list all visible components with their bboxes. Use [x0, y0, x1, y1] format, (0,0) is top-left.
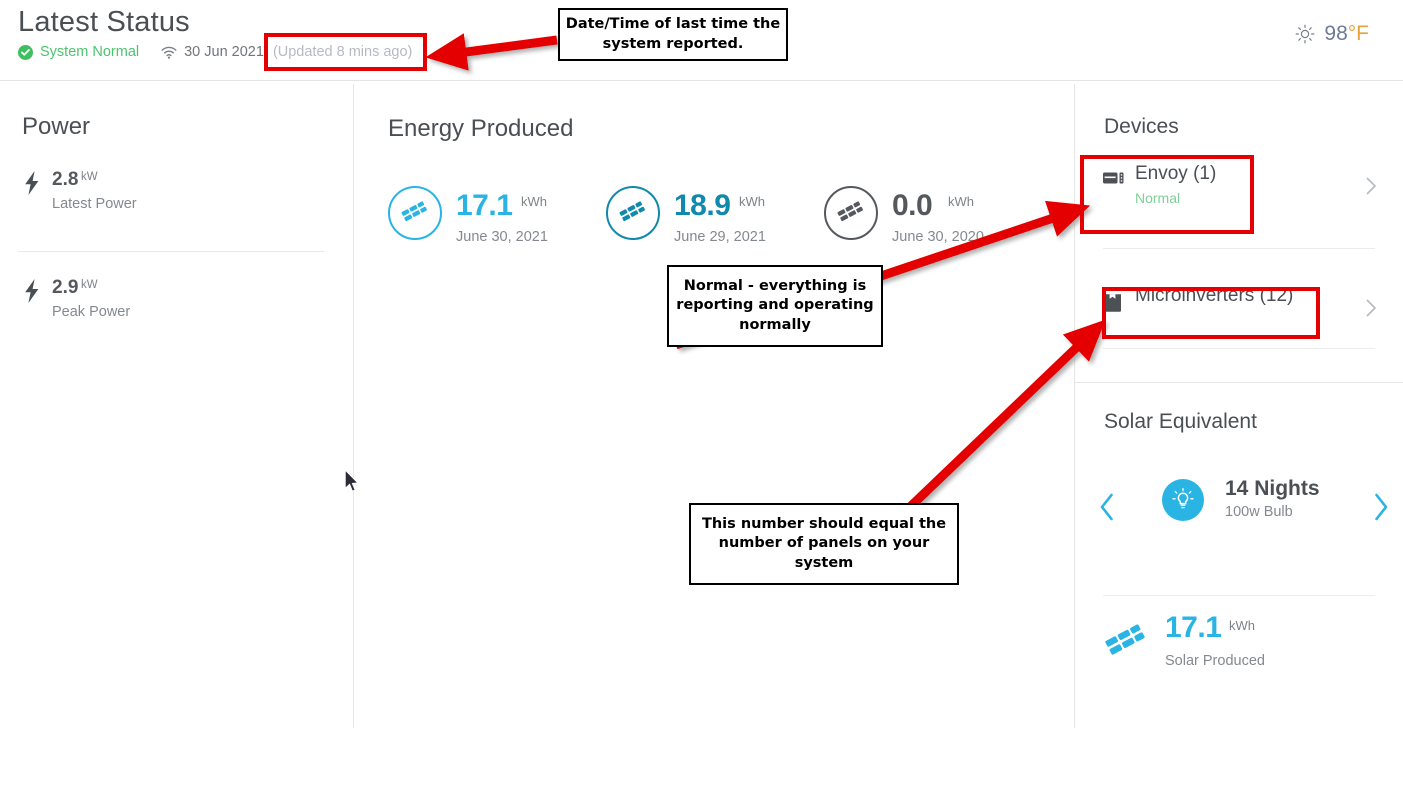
energy-produced-panel: Energy Produced 17.1kWh June 30, 2021 [354, 81, 1074, 729]
temperature-unit: °F [1348, 22, 1369, 46]
power-section-title: Power [22, 113, 90, 141]
solar-equivalent-title: Solar Equivalent [1104, 410, 1257, 434]
bolt-icon [22, 279, 42, 308]
energy-unit-yesterday: kWh [739, 194, 765, 209]
last-report-date: 30 Jun 2021 [184, 44, 264, 60]
solar-equivalent-divider [1103, 595, 1375, 596]
chevron-right-icon[interactable] [1373, 493, 1389, 526]
energy-date-lastyear: June 30, 2020 [892, 229, 984, 245]
devices-divider-2 [1103, 348, 1375, 349]
solar-panel-icon [388, 186, 442, 240]
system-status-text: System Normal [40, 44, 139, 60]
power-row-peak: 2.9kW Peak Power [22, 277, 322, 347]
latest-power-value: 2.8 [52, 169, 78, 191]
energy-date-yesterday: June 29, 2021 [674, 229, 766, 245]
peak-power-value: 2.9 [52, 277, 78, 299]
devices-divider-1 [1103, 248, 1375, 249]
highlight-box-updated [264, 33, 427, 71]
solar-produced-row: 17.1kWh Solar Produced [1101, 611, 1381, 671]
energy-value-lastyear: 0.0 [892, 189, 932, 223]
callout-normal-note: Normal - everything is reporting and ope… [667, 265, 883, 347]
energy-value-yesterday: 18.9 [674, 189, 730, 223]
highlight-box-microinverters [1102, 287, 1320, 339]
highlight-box-envoy [1080, 155, 1254, 234]
energy-section-title: Energy Produced [388, 115, 573, 143]
sun-icon [1295, 24, 1315, 44]
temperature-value: 98 [1324, 22, 1347, 46]
wifi-icon [161, 46, 177, 59]
solar-produced-unit: kWh [1229, 618, 1255, 633]
peak-power-unit: kW [81, 279, 98, 291]
mouse-cursor [344, 469, 362, 495]
solar-panel-icon [1101, 617, 1149, 670]
latest-power-label: Latest Power [52, 196, 137, 212]
check-circle-icon [18, 45, 33, 60]
callout-panels-note: This number should equal the number of p… [689, 503, 959, 585]
bolt-icon [22, 171, 42, 200]
solar-panel-icon [606, 186, 660, 240]
solar-equivalent-carousel: 14 Nights 100w Bulb [1099, 479, 1389, 535]
energy-unit-lastyear: kWh [948, 194, 974, 209]
latest-power-unit: kW [81, 171, 98, 183]
page-title: Latest Status [18, 6, 190, 39]
power-panel: Power 2.8kW Latest Power 2.9kW Peak Powe… [0, 81, 353, 729]
solar-produced-label: Solar Produced [1165, 653, 1265, 669]
energy-date-today: June 30, 2021 [456, 229, 548, 245]
right-panel-section-divider [1075, 382, 1403, 383]
energy-value-today: 17.1 [456, 189, 512, 223]
energy-unit-today: kWh [521, 194, 547, 209]
peak-power-label: Peak Power [52, 304, 130, 320]
solar-equivalent-label: 100w Bulb [1225, 504, 1293, 520]
enphase-dashboard: Latest Status System Normal 30 Jun 2021 … [0, 0, 1403, 729]
power-row-latest: 2.8kW Latest Power [22, 169, 322, 239]
callout-updated-note: Date/Time of last time the system report… [558, 8, 788, 61]
solar-equivalent-value: 14 Nights [1225, 477, 1320, 501]
devices-section-title: Devices [1104, 115, 1179, 139]
power-divider [18, 251, 324, 252]
chevron-left-icon[interactable] [1099, 493, 1115, 526]
chevron-right-icon[interactable] [1366, 299, 1377, 322]
solar-panel-icon [824, 186, 878, 240]
chevron-right-icon[interactable] [1366, 177, 1377, 200]
lightbulb-icon [1162, 479, 1204, 521]
weather-widget: 98°F [1295, 22, 1369, 46]
solar-produced-value: 17.1 [1165, 611, 1221, 645]
